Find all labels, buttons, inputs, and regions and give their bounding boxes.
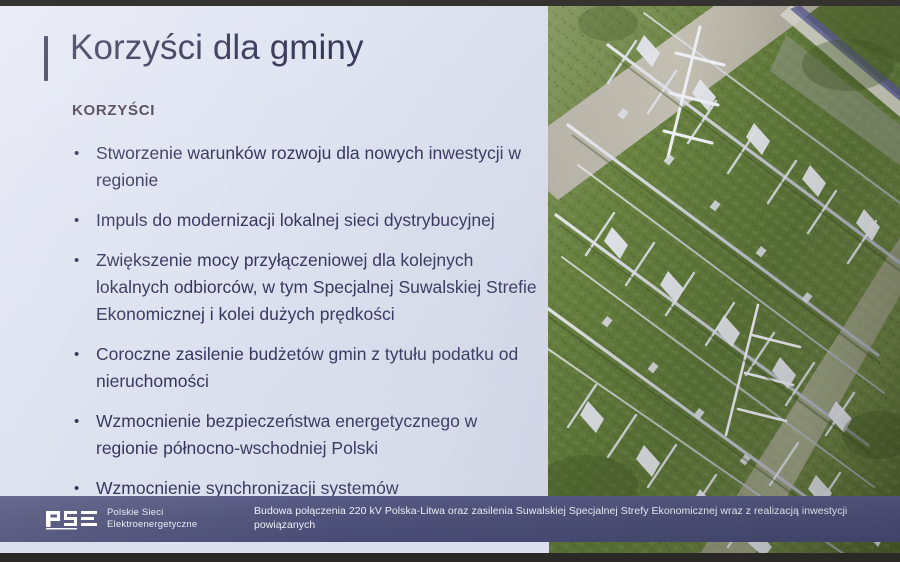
list-item: • Impuls do modernizacji lokalnej sieci … xyxy=(70,207,544,234)
list-item-label: Coroczne zasilenie budżetów gmin z tytuł… xyxy=(96,341,544,395)
pse-logo-subtitle: Polskie Sieci Elektroenergetyczne xyxy=(107,507,197,530)
list-item: • Wzmocnienie bezpieczeństwa energetyczn… xyxy=(70,408,544,462)
slide-content-panel: Korzyści dla gminy KORZYŚCI • Stworzenie… xyxy=(0,4,549,558)
substation-aerial-photo xyxy=(548,5,900,557)
pse-logo-icon xyxy=(46,508,98,530)
list-item-label: Impuls do modernizacji lokalnej sieci dy… xyxy=(96,207,495,234)
screen-bezel-top xyxy=(0,0,900,6)
title-accent-bar xyxy=(44,36,48,81)
bullet-point-icon: • xyxy=(70,408,96,462)
list-item-label: Wzmocnienie bezpieczeństwa energetyczneg… xyxy=(96,408,544,462)
pse-subtitle-line-2: Elektroenergetyczne xyxy=(107,519,197,531)
list-item-label: Zwiększenie mocy przyłączeniowej dla kol… xyxy=(96,247,544,328)
list-item: • Coroczne zasilenie budżetów gmin z tyt… xyxy=(70,341,544,395)
substation-illustration xyxy=(548,5,900,557)
slide-photograph: Korzyści dla gminy KORZYŚCI • Stworzenie… xyxy=(0,0,900,562)
footer-bar: Polskie Sieci Elektroenergetyczne Budowa… xyxy=(0,496,900,542)
bullet-point-icon: • xyxy=(70,341,96,395)
list-item: • Stworzenie warunków rozwoju dla nowych… xyxy=(70,140,544,194)
list-item-label: Stworzenie warunków rozwoju dla nowych i… xyxy=(96,140,544,194)
pse-logo: Polskie Sieci Elektroenergetyczne xyxy=(46,507,197,530)
page-title: Korzyści dla gminy xyxy=(44,30,364,81)
pse-subtitle-line-1: Polskie Sieci xyxy=(107,507,197,519)
title-text: Korzyści dla gminy xyxy=(70,30,364,67)
bullet-point-icon: • xyxy=(70,247,96,328)
list-item: • Zwiększenie mocy przyłączeniowej dla k… xyxy=(70,247,544,328)
bullet-point-icon: • xyxy=(70,207,96,234)
screen-bezel-bottom xyxy=(0,553,900,562)
bullet-point-icon: • xyxy=(70,140,96,194)
section-subheading: KORZYŚCI xyxy=(72,102,155,119)
project-caption: Budowa połączenia 220 kV Polska-Litwa or… xyxy=(254,505,884,532)
